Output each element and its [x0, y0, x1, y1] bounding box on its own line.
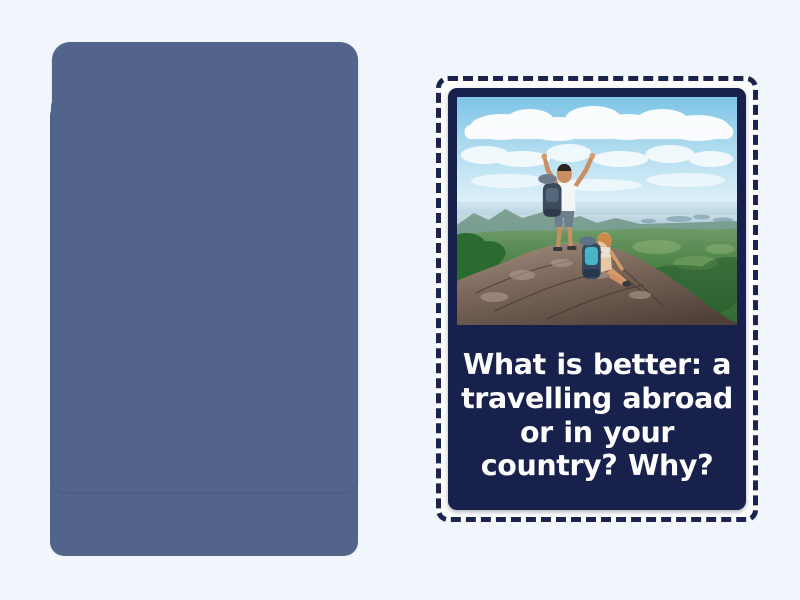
- card-deck[interactable]: [50, 42, 358, 554]
- question-text: What is better: a travelling abroad or i…: [457, 325, 737, 510]
- hikers-on-mountain-summit-photo: [457, 97, 737, 325]
- deck-card-top[interactable]: [52, 42, 358, 492]
- flashcard-stage: What is better: a travelling abroad or i…: [0, 0, 800, 600]
- question-card[interactable]: What is better: a travelling abroad or i…: [448, 88, 746, 510]
- selected-card-outline[interactable]: What is better: a travelling abroad or i…: [436, 76, 758, 522]
